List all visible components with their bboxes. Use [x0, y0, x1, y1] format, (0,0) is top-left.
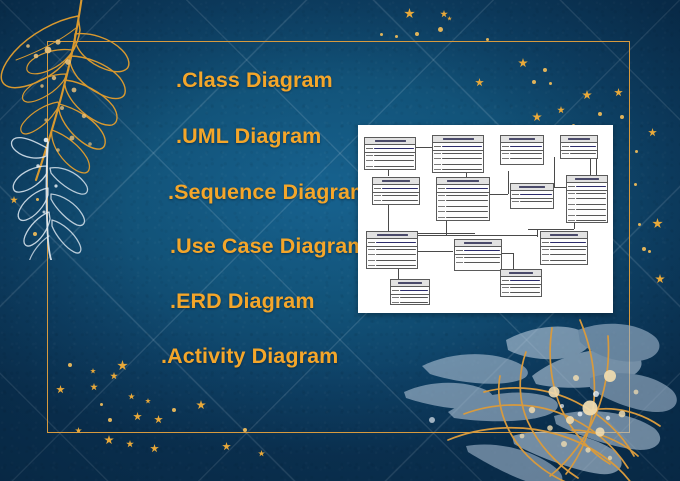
- list-item-use-case-diagram: .Use Case Diagram: [170, 234, 367, 259]
- promo-slide: .Class Diagram .UML Diagram .Sequence Di…: [0, 0, 680, 481]
- erd-preview-panel: [358, 125, 613, 313]
- list-item-erd-diagram: .ERD Diagram: [170, 289, 315, 314]
- erd-entity-box: [364, 137, 416, 170]
- erd-entity-box: [372, 177, 420, 205]
- erd-entity-box: [566, 175, 608, 223]
- list-item-sequence-diagram: .Sequence Diagram: [168, 180, 369, 205]
- erd-entity-box: [366, 231, 418, 269]
- erd-entity-box: [540, 231, 588, 265]
- erd-entity-box: [510, 183, 554, 209]
- erd-entity-box: [432, 135, 484, 173]
- erd-entity-box: [500, 269, 542, 297]
- list-item-activity-diagram: .Activity Diagram: [161, 344, 338, 369]
- list-item-class-diagram: .Class Diagram: [176, 68, 333, 93]
- erd-entity-box: [436, 177, 490, 221]
- erd-entity-box: [560, 135, 598, 159]
- list-item-uml-diagram: .UML Diagram: [176, 124, 321, 149]
- erd-entity-box: [390, 279, 430, 305]
- erd-entity-box: [454, 239, 502, 271]
- erd-diagram-canvas: [358, 125, 613, 313]
- erd-entity-box: [500, 135, 544, 165]
